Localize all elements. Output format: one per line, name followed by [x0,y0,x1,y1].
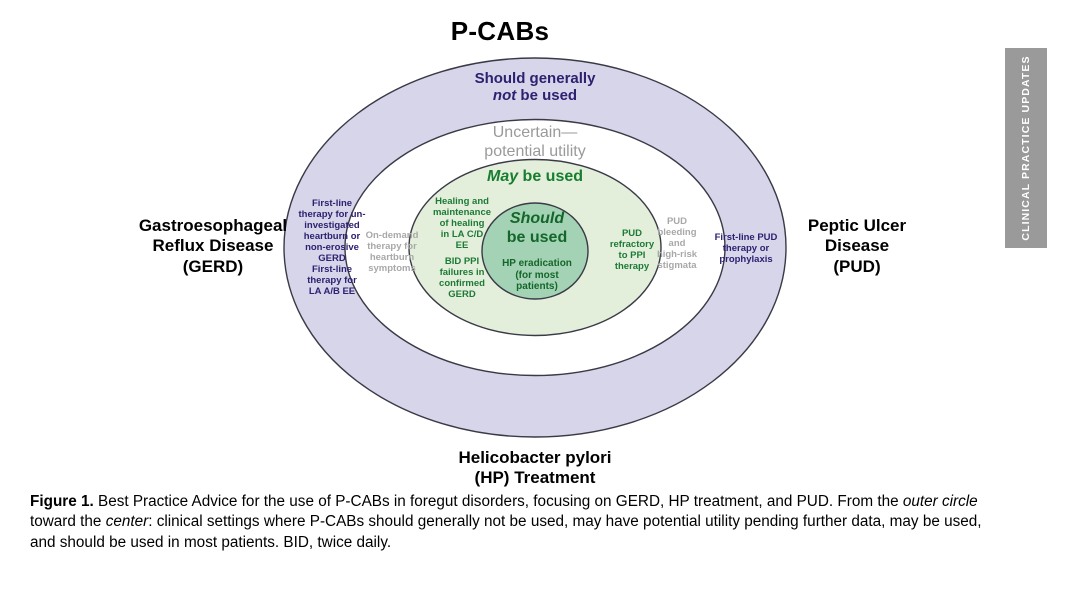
ring-outer-heading-line2-rest: be used [516,87,577,104]
axis-label-left-line1: Gastroesophageal [139,216,287,235]
figure-caption: Figure 1. Best Practice Advice for the u… [30,492,988,553]
figure-caption-em2: center [106,513,149,530]
ring-uncertain-heading-line2: potential utility [484,143,585,160]
ring-uncertain-left-note-1: On-demand therapy for heartburn symptoms [358,230,426,274]
axis-label-right: Peptic Ulcer Disease (PUD) [782,216,932,277]
axis-label-left: Gastroesophageal Reflux Disease (GERD) [128,216,298,277]
figure-caption-part1: Best Practice Advice for the use of P-CA… [94,493,903,510]
ring-uncertain-heading: Uncertain— potential utility [435,124,635,161]
ring-should-center-note: HP eradication (for most patients) [487,258,587,293]
figure-caption-em1: outer circle [903,493,978,510]
axis-label-right-line1: Peptic Ulcer [808,216,906,235]
ring-outer-right-note-1: First-line PUD therapy or prophylaxis [706,232,786,265]
ring-may-right-note-1: PUD refractory to PPI therapy [600,228,664,272]
axis-label-right-line2: Disease [825,236,889,255]
figure-caption-part2: toward the [30,513,106,530]
figure-caption-label: Figure 1. [30,493,94,510]
ring-should-heading: Should be used [487,210,587,247]
figure-caption-part3: : clinical settings where P-CABs should … [30,513,982,550]
ring-should-heading-emphasis: Should [510,210,564,227]
axis-label-left-line2: Reflux Disease [153,236,274,255]
axis-label-right-line3: (PUD) [833,257,880,276]
ring-may-heading-rest: be used [518,168,583,185]
ring-uncertain-heading-line1: Uncertain— [493,124,577,141]
ring-may-left-note-2: BID PPI failures in confirmed GERD [424,256,500,300]
ring-may-heading: May be used [455,168,615,187]
axis-label-bottom-line2: (HP) Treatment [475,468,596,487]
clinical-practice-updates-tab: CLINICAL PRACTICE UPDATES [1005,48,1047,248]
concentric-ellipse-diagram: Should generally not be used Uncertain— … [0,0,1000,490]
ring-may-heading-emphasis: May [487,168,518,185]
axis-label-bottom: Helicobacter pylori (HP) Treatment [400,448,670,489]
ring-outer-heading-line1: Should generally [475,70,596,87]
side-tab-label: CLINICAL PRACTICE UPDATES [1020,55,1032,240]
axis-label-bottom-line1: Helicobacter pylori [458,448,611,467]
ring-outer-heading-emphasis: not [493,87,516,104]
ring-should-heading-line2: be used [507,229,567,246]
ring-may-left-note-1: Healing and maintenance of healing in LA… [424,196,500,251]
ring-outer-heading: Should generally not be used [410,70,660,105]
axis-label-left-line3: (GERD) [183,257,243,276]
